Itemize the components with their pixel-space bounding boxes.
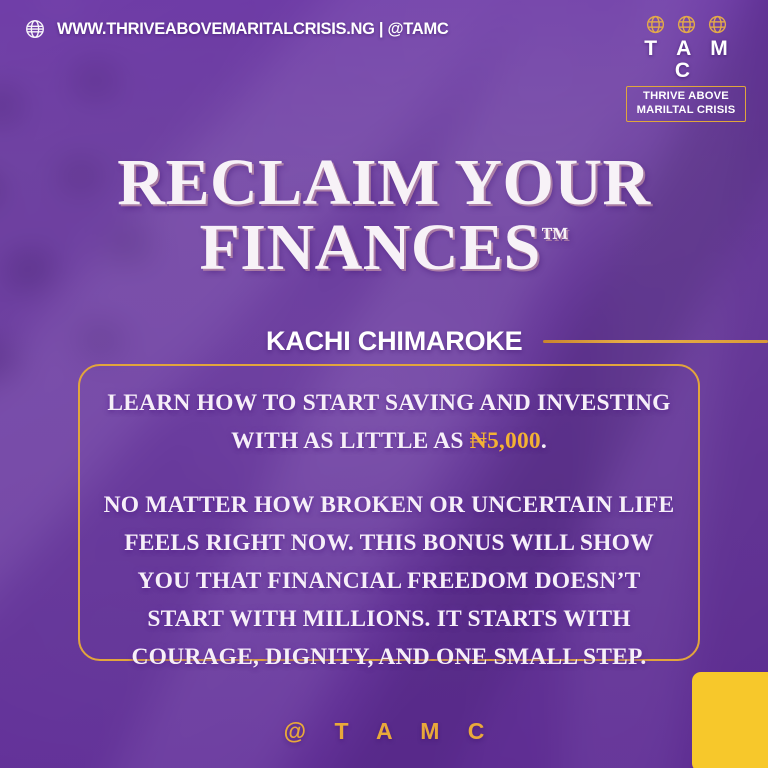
- poster-canvas: WWW.THRIVEABOVEMARITALCRISIS.NG | @TAMC: [0, 0, 768, 768]
- headline-line-1: RECLAIM YOUR: [0, 150, 768, 215]
- logo-tagline-box: THRIVE ABOVE MARILTAL CRISIS: [626, 86, 746, 122]
- globe-icon: [24, 18, 46, 40]
- logo-globe-row: [626, 14, 746, 35]
- trademark-symbol: ™: [541, 221, 569, 252]
- body-paragraph-1: LEARN HOW TO START SAVING AND INVESTING …: [102, 384, 676, 460]
- body-copy-box: LEARN HOW TO START SAVING AND INVESTING …: [78, 364, 700, 661]
- author-divider-rule: [543, 340, 768, 343]
- logo-tagline-line-1: THRIVE ABOVE: [631, 90, 741, 104]
- globe-icon: [707, 14, 728, 35]
- body-p1-tail: .: [541, 428, 547, 454]
- body-paragraph-2: NO MATTER HOW BROKEN OR UNCERTAIN LIFE F…: [102, 486, 676, 676]
- paragraph-spacer: [102, 460, 676, 486]
- author-name: KACHI CHIMAROKE: [266, 326, 523, 357]
- social-handle: @ T A M C: [0, 718, 768, 745]
- headline-line-2-text: FINANCES: [199, 211, 540, 284]
- globe-icon: [676, 14, 697, 35]
- body-p1-lead: LEARN HOW TO START SAVING AND INVESTING …: [107, 390, 670, 454]
- headline-line-2: FINANCES™: [0, 215, 768, 280]
- headline: RECLAIM YOUR FINANCES™: [0, 150, 768, 281]
- globe-icon: [645, 14, 666, 35]
- website-url-text: WWW.THRIVEABOVEMARITALCRISIS.NG | @TAMC: [57, 20, 449, 39]
- author-row: KACHI CHIMAROKE: [0, 322, 768, 360]
- price-amount: ₦5,000: [470, 428, 541, 454]
- logo-letters: T A M C: [626, 38, 746, 82]
- tamc-logo: T A M C THRIVE ABOVE MARILTAL CRISIS: [626, 14, 746, 122]
- logo-tagline-line-2: MARILTAL CRISIS: [631, 104, 741, 118]
